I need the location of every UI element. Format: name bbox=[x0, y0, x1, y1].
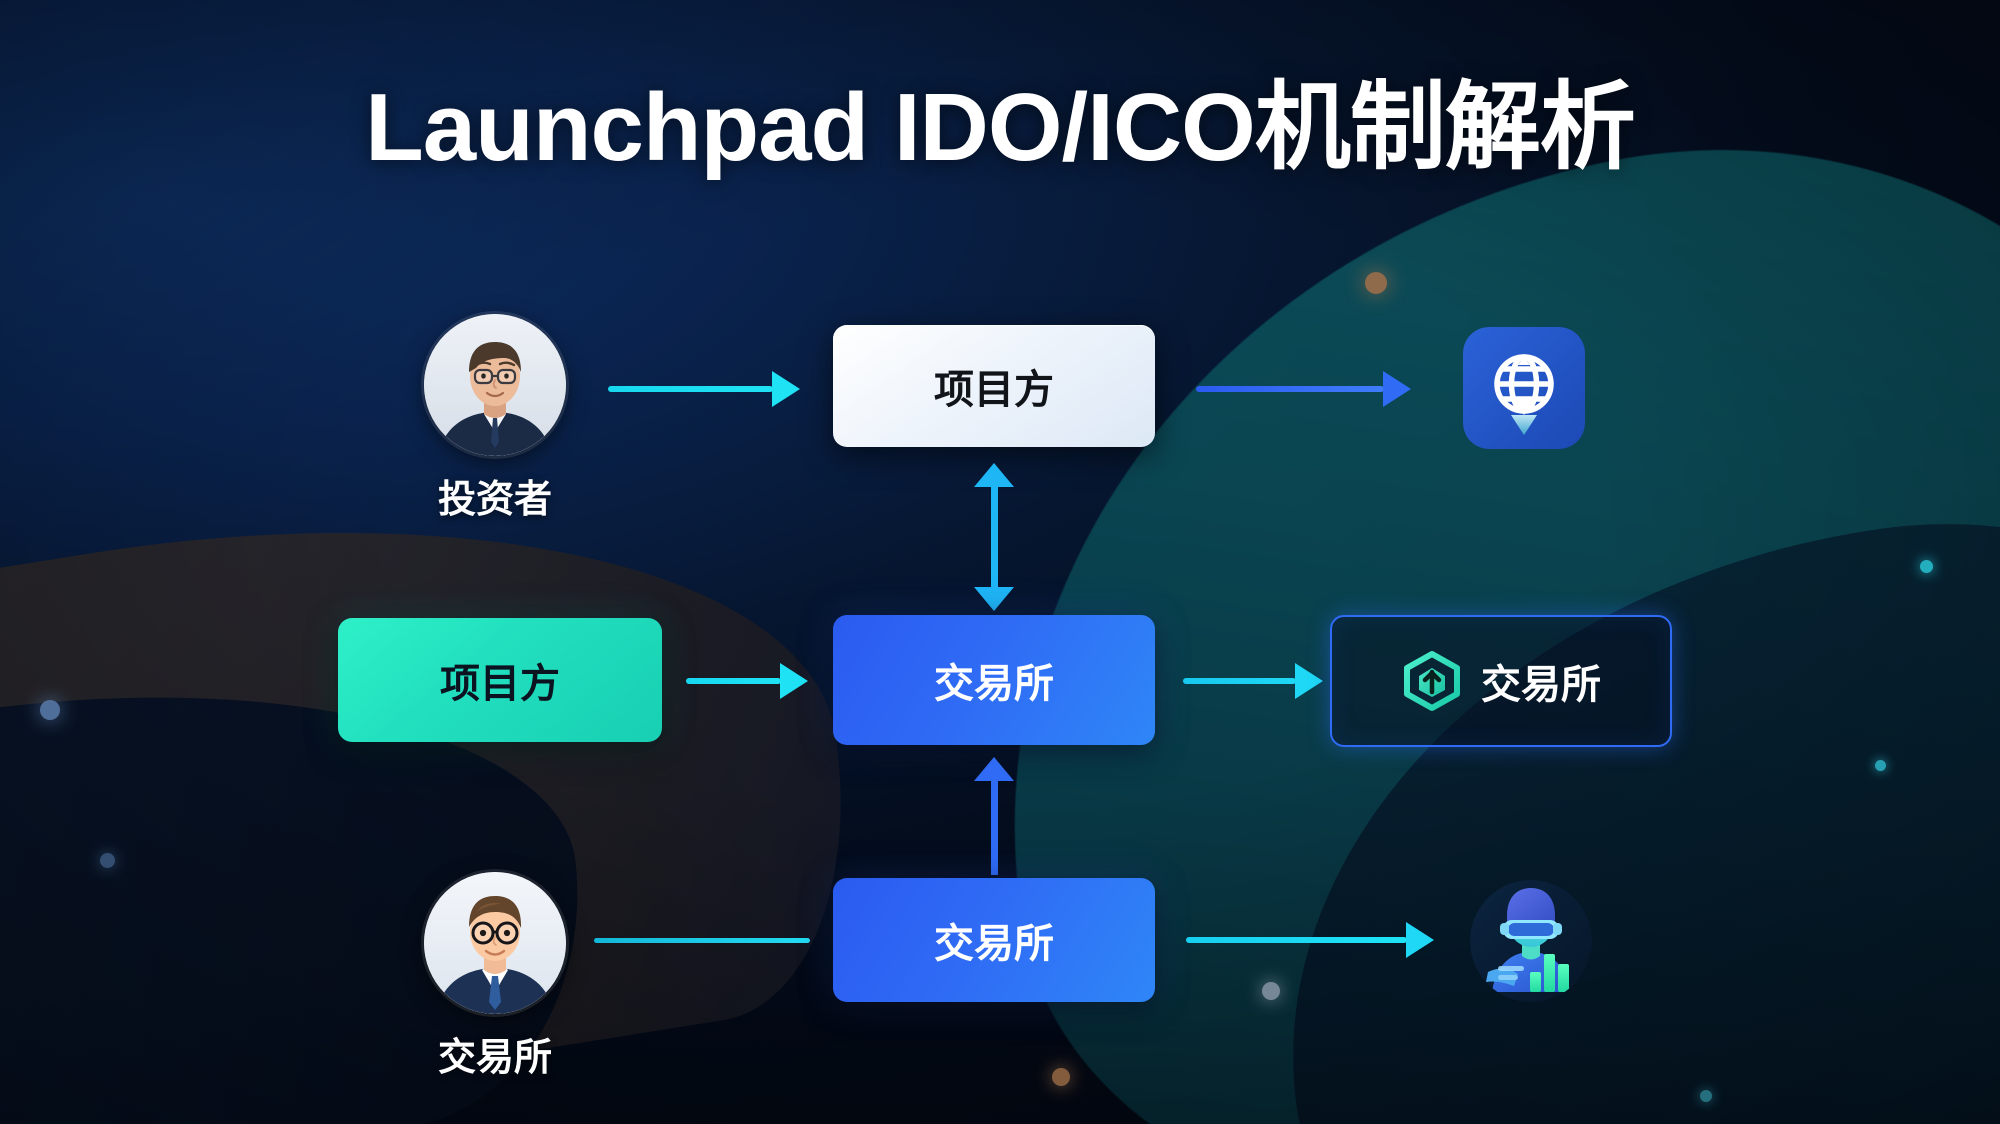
box-exchange-logo-card[interactable]: 交易所 bbox=[1330, 615, 1672, 747]
decor-dot bbox=[100, 853, 115, 868]
box-exchange-bottom-label: 交易所 bbox=[934, 911, 1054, 969]
box-exchange-logo-label: 交易所 bbox=[1481, 652, 1601, 710]
exchange-avatar-label: 交易所 bbox=[365, 1026, 625, 1081]
connector-row3-row2 bbox=[974, 757, 1014, 875]
box-project-party-top[interactable]: 项目方 bbox=[833, 325, 1155, 447]
globe-launch-icon[interactable] bbox=[1463, 327, 1585, 449]
box-project-party-mid[interactable]: 项目方 bbox=[338, 618, 662, 742]
decor-dot bbox=[1875, 760, 1886, 771]
connector-row1-row2 bbox=[974, 463, 1014, 611]
arrow-project-to-launchpad bbox=[1196, 376, 1411, 402]
investor-avatar bbox=[424, 314, 566, 456]
vr-analytics-avatar-icon[interactable] bbox=[1470, 880, 1592, 1002]
arrow-exchange-to-analytics bbox=[1186, 927, 1434, 953]
box-exchange-mid-label: 交易所 bbox=[934, 651, 1054, 709]
arrow-project-to-exchange-mid bbox=[686, 668, 808, 694]
line-exchange-avatar-to-box bbox=[594, 938, 810, 943]
box-exchange-mid[interactable]: 交易所 bbox=[833, 615, 1155, 745]
box-exchange-bottom[interactable]: 交易所 bbox=[833, 878, 1155, 1002]
cube-exchange-logo-icon bbox=[1401, 650, 1463, 712]
slide-canvas: Launchpad IDO/ICO机制解析 bbox=[0, 0, 2000, 1124]
decor-dot bbox=[1365, 272, 1387, 294]
page-title: Launchpad IDO/ICO机制解析 bbox=[0, 78, 2000, 179]
decor-dot bbox=[40, 700, 60, 720]
arrow-investor-to-project bbox=[608, 376, 800, 402]
box-project-party-mid-label: 项目方 bbox=[440, 651, 560, 709]
decor-dot bbox=[1052, 1068, 1070, 1086]
decor-dot bbox=[1262, 982, 1280, 1000]
decor-dot bbox=[1700, 1090, 1712, 1102]
decor-dot bbox=[1920, 560, 1933, 573]
box-project-party-top-label: 项目方 bbox=[934, 357, 1054, 415]
arrow-exchange-to-exchange-logo bbox=[1183, 668, 1323, 694]
exchange-avatar bbox=[424, 872, 566, 1014]
investor-avatar-label: 投资者 bbox=[365, 468, 625, 523]
